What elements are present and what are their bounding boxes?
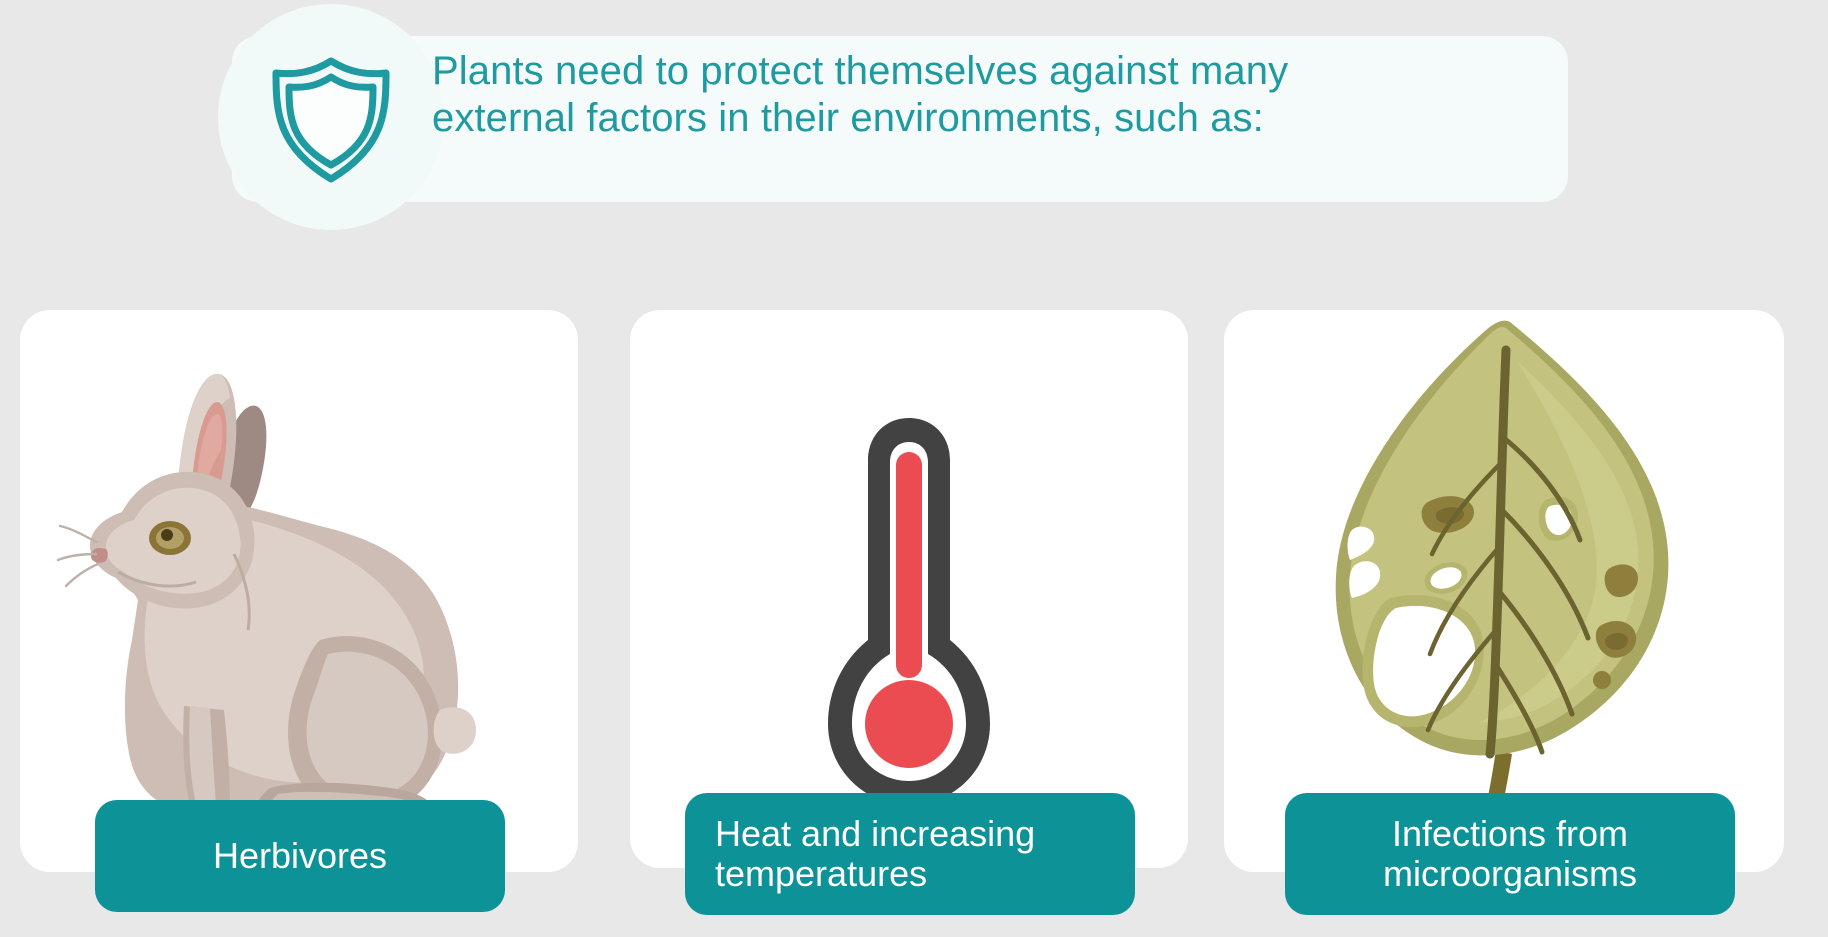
card-label-microorganisms[interactable]: Infections from microorganisms <box>1285 793 1735 915</box>
card-herbivores[interactable] <box>20 310 578 872</box>
damaged-leaf-illustration <box>1224 310 1784 872</box>
thermometer-illustration <box>630 310 1188 868</box>
shield-icon <box>264 55 398 185</box>
card-microorganisms[interactable] <box>1224 310 1784 872</box>
infographic-stage: Plants need to protect themselves agains… <box>0 0 1828 937</box>
card-label-herbivores[interactable]: Herbivores <box>95 800 505 912</box>
banner-text: Plants need to protect themselves agains… <box>432 48 1472 142</box>
card-label-heat[interactable]: Heat and increasing temperatures <box>685 793 1135 915</box>
card-heat[interactable] <box>630 310 1188 868</box>
rabbit-illustration <box>20 310 578 872</box>
